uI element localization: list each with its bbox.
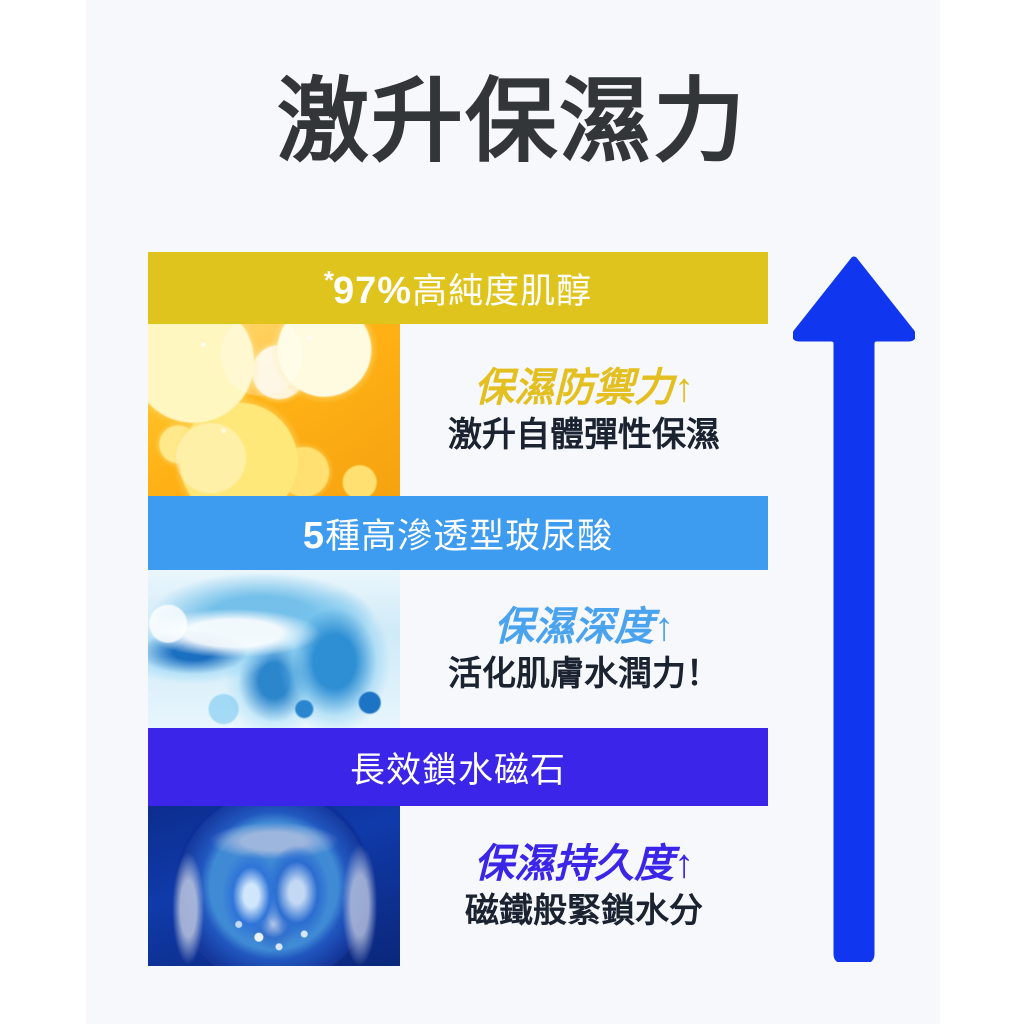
thumbnail-golden-oil-bubbles — [148, 324, 400, 496]
water-splash-image — [148, 570, 400, 728]
thumbnail-blue-sphere-droplets — [148, 806, 400, 966]
band-moisture-magnet: 長效鎖水磁石 — [148, 728, 768, 806]
band-inositol-rest: 高純度肌醇 — [412, 272, 592, 311]
thumbnail-water-splash — [148, 570, 400, 728]
copy-moisture-magnet: 保濕持久度↑ 磁鐵般緊鎖水分 — [400, 806, 768, 966]
benefits-stack: *97%高純度肌醇 保濕防禦力↑ 激升自體彈性保濕 5種高滲透型玻尿酸 保濕深度… — [148, 252, 768, 966]
band-moisture-magnet-rest: 長效鎖水磁石 — [350, 751, 566, 790]
page-title: 激升保濕力 — [0, 72, 1024, 173]
copy-hyaluronic-acid: 保濕深度↑ 活化肌膚水潤力！ — [400, 570, 768, 728]
headline-hyaluronic-acid: 保濕深度↑ — [494, 604, 674, 650]
headline-inositol: 保濕防禦力↑ — [474, 365, 694, 411]
headline-moisture-magnet: 保濕持久度↑ — [474, 841, 694, 887]
band-hyaluronic-acid-rest: 種高滲透型玻尿酸 — [325, 517, 613, 556]
subtext-moisture-magnet: 磁鐵般緊鎖水分 — [465, 891, 703, 932]
blue-sphere-image — [148, 806, 400, 966]
copy-inositol: 保濕防禦力↑ 激升自體彈性保濕 — [400, 324, 768, 496]
subtext-inositol: 激升自體彈性保濕 — [448, 415, 720, 456]
subtext-hyaluronic-acid: 活化肌膚水潤力！ — [448, 654, 720, 695]
band-moisture-magnet-text: 長效鎖水磁石 — [350, 742, 566, 793]
band-inositol-lead: 97% — [333, 270, 412, 312]
band-hyaluronic-acid: 5種高滲透型玻尿酸 — [148, 496, 768, 570]
band-hyaluronic-acid-text: 5種高滲透型玻尿酸 — [303, 508, 613, 559]
up-arrow-icon — [793, 256, 915, 962]
row-moisture-magnet: 保濕持久度↑ 磁鐵般緊鎖水分 — [148, 806, 768, 966]
band-hyaluronic-acid-lead: 5 — [303, 515, 325, 557]
band-inositol: *97%高純度肌醇 — [148, 252, 768, 324]
poster-root: 激升保濕力 *97%高純度肌醇 保濕防禦力↑ 激升自體彈性保濕 5種高滲透型玻尿… — [0, 0, 1024, 1024]
row-hyaluronic-acid: 保濕深度↑ 活化肌膚水潤力！ — [148, 570, 768, 728]
band-inositol-text: *97%高純度肌醇 — [324, 263, 592, 314]
row-inositol: 保濕防禦力↑ 激升自體彈性保濕 — [148, 324, 768, 496]
oil-bubbles-image — [148, 324, 400, 496]
